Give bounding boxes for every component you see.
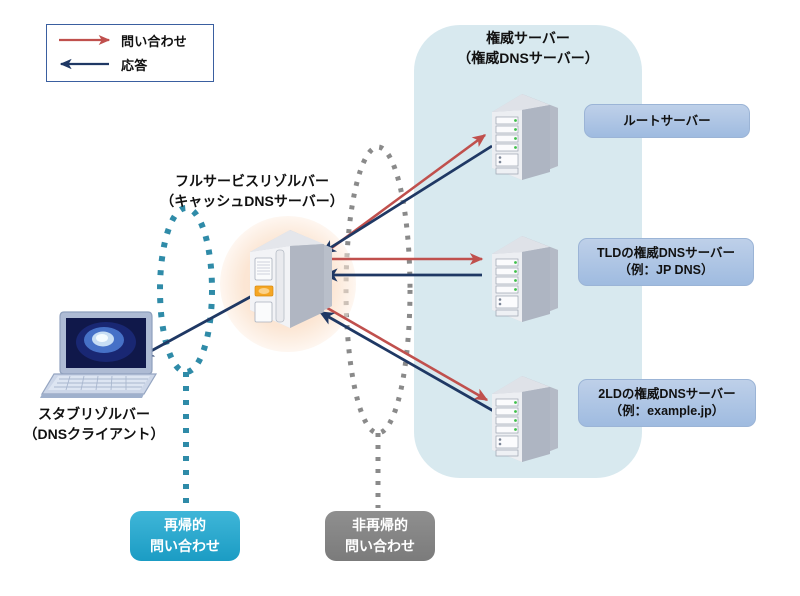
server-icon-2ld <box>478 368 570 464</box>
arrow-2ld-to-resolver-response <box>320 312 497 413</box>
resolver-caption-line1: フルサービスリゾルバー <box>150 171 354 191</box>
label-box-tld-server[interactable]: TLDの権威DNSサーバー （例：JP DNS） <box>578 238 754 286</box>
callout-recursive-line1: 再帰的 <box>150 515 220 536</box>
root-server-label-line1: ルートサーバー <box>623 113 710 130</box>
legend-label-response: 応答 <box>121 55 147 74</box>
server-icon-tld <box>478 228 570 324</box>
stub-resolver-caption-line2: （DNSクライアント） <box>8 424 180 444</box>
legend-label-query: 問い合わせ <box>121 31 187 50</box>
callout-nonrecursive-query[interactable]: 非再帰的 問い合わせ <box>325 511 435 561</box>
2ld-server-label-line1: 2LDの権威DNSサーバー <box>598 386 735 403</box>
callout-recursive-line2: 問い合わせ <box>150 536 220 557</box>
laptop-icon <box>40 308 158 400</box>
arrow-right-red-icon <box>47 29 121 51</box>
server-icon-root <box>478 86 570 182</box>
diagram-canvas: 権威サーバー （権威DNSサーバー） <box>0 0 800 596</box>
callout-recursive-query[interactable]: 再帰的 問い合わせ <box>130 511 240 561</box>
arrow-resolver-to-2ld-query <box>322 305 487 400</box>
label-box-root-server[interactable]: ルートサーバー <box>584 104 750 138</box>
callout-nonrecursive-line1: 非再帰的 <box>345 515 415 536</box>
tld-server-label-line1: TLDの権威DNSサーバー <box>597 245 735 262</box>
resolver-caption-line2: （キャッシュDNSサーバー） <box>150 191 354 211</box>
arrow-left-blue-icon <box>47 53 121 75</box>
2ld-server-label-line2: （例：example.jp） <box>598 403 735 420</box>
legend-row-query: 問い合わせ <box>47 29 215 51</box>
server-icon-resolver <box>240 224 340 334</box>
legend: 問い合わせ 応答 <box>46 24 214 82</box>
resolver-caption: フルサービスリゾルバー （キャッシュDNSサーバー） <box>150 171 354 211</box>
tld-server-label-line2: （例：JP DNS） <box>597 262 735 279</box>
legend-row-response: 応答 <box>47 53 215 75</box>
stub-resolver-caption-line1: スタブリゾルバー <box>8 404 180 424</box>
label-box-2ld-server[interactable]: 2LDの権威DNSサーバー （例：example.jp） <box>578 379 756 427</box>
callout-nonrecursive-line2: 問い合わせ <box>345 536 415 557</box>
flow-arrow-layer <box>0 0 800 596</box>
stub-resolver-caption: スタブリゾルバー （DNSクライアント） <box>8 404 180 444</box>
